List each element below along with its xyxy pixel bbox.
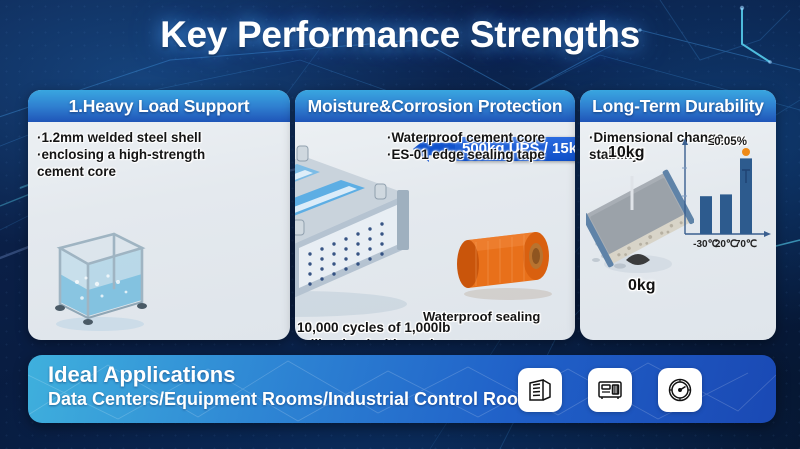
server-rack-icon[interactable] — [518, 368, 562, 412]
panel-long-term-durability: Long-Term Durability ·Dimensional change… — [580, 90, 776, 340]
rolling-load-caption: 10,000 cycles of 1,000lb rolling load wi… — [297, 320, 477, 340]
chart-bar — [700, 196, 712, 234]
panel-moisture-corrosion-body: 500kg UPS / 15kW ·Waterproof cement core… — [295, 122, 575, 340]
dimensional-change-bar-chart: -30℃20℃70℃ — [675, 134, 773, 264]
sealing-tape-roll-image — [450, 222, 565, 302]
chart-tick-label: 70℃ — [735, 239, 757, 250]
chart-annotation: ≤0.05% — [708, 136, 747, 148]
panel-heavy-load-support: 1.Heavy Load Support ·1.2mm welded steel… — [28, 90, 290, 340]
ideal-applications-text-block: Ideal Applications Data Centers/Equipmen… — [48, 363, 544, 410]
ideal-applications-subtitle: Data Centers/Equipment Rooms/Industrial … — [48, 389, 544, 411]
panel-heavy-load-bullets: ·1.2mm welded steel shell ·enclosing a h… — [37, 129, 287, 180]
chart-marker-dot — [742, 148, 750, 156]
panel-long-term-durability-title: Long-Term Durability — [580, 90, 776, 122]
steel-enclosure-module-image — [295, 142, 420, 327]
panel-moisture-corrosion-bullets: ·Waterproof cement core ·ES-01 edge seal… — [387, 129, 575, 163]
panel-long-term-durability-body: ·Dimensional change stability — [580, 122, 776, 340]
control-panel-icon[interactable] — [588, 368, 632, 412]
ideal-applications-bar: Ideal Applications Data Centers/Equipmen… — [28, 355, 776, 423]
panel-moisture-corrosion-protection: Moisture&Corrosion Protection — [295, 90, 575, 340]
chart-bar — [720, 194, 732, 234]
page-title: Key Performance Strengths — [0, 14, 800, 56]
panel-moisture-corrosion-title: Moisture&Corrosion Protection — [295, 90, 575, 122]
infographic-root: Key Performance Strengths 1.Heavy Load S… — [0, 0, 800, 449]
gauge-icon[interactable] — [658, 368, 702, 412]
ideal-applications-title: Ideal Applications — [48, 363, 544, 388]
chart-tick-label: 20℃ — [715, 239, 737, 250]
panel-heavy-load-title: 1.Heavy Load Support — [28, 90, 290, 122]
load-label-bottom: 0kg — [628, 277, 656, 295]
panel-heavy-load-body: ·1.2mm welded steel shell ·enclosing a h… — [28, 122, 290, 340]
load-label-top: 10kg — [608, 144, 644, 162]
water-immersion-tank-image — [42, 212, 152, 332]
